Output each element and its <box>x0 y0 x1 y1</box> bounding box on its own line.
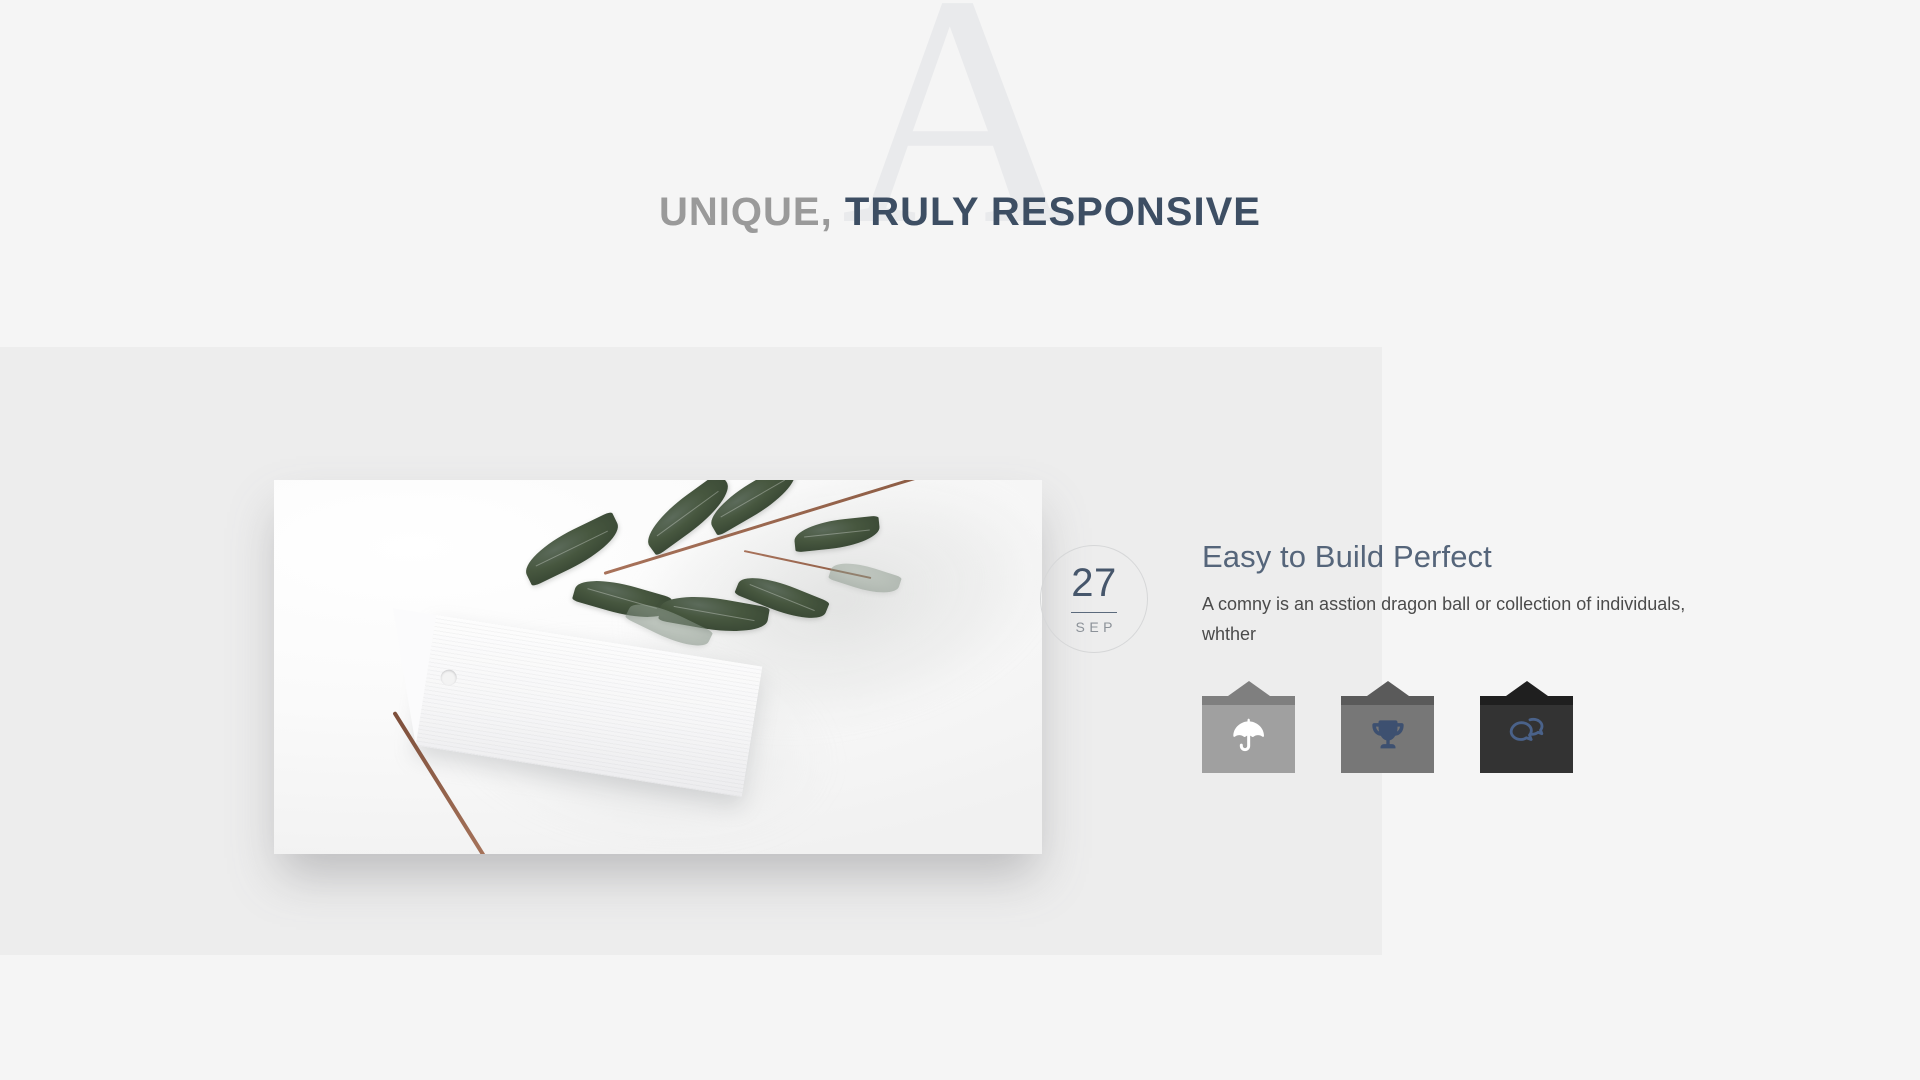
post-date-month: SEP <box>1071 620 1117 634</box>
post-image-canvas: ê <box>274 480 1042 854</box>
badge-top-strip <box>1341 696 1434 705</box>
trophy-icon <box>1368 715 1408 755</box>
badge-notch <box>1228 681 1270 696</box>
post-featured-image[interactable]: ê <box>274 480 1042 854</box>
badge-notch <box>1506 681 1548 696</box>
badge-comments[interactable] <box>1480 683 1573 773</box>
post-text-block: Easy to Build Perfect A comny is an asst… <box>1202 537 1762 649</box>
post-date-badge[interactable]: 27 SEP <box>1040 545 1148 653</box>
badge-trophy[interactable] <box>1341 683 1434 773</box>
umbrella-icon <box>1229 715 1269 755</box>
post-date-divider <box>1071 612 1117 613</box>
post-badge-row <box>1202 683 1573 773</box>
page-title-light-part: UNIQUE, <box>659 190 833 234</box>
badge-top-strip <box>1202 696 1295 705</box>
post-excerpt: A comny is an asstion dragon ball or col… <box>1202 589 1732 649</box>
badge-top-strip <box>1480 696 1573 705</box>
comments-icon <box>1507 715 1547 755</box>
post-title[interactable]: Easy to Build Perfect <box>1202 537 1762 577</box>
badge-umbrella[interactable] <box>1202 683 1295 773</box>
post-date-day: 27 <box>1071 563 1117 603</box>
badge-notch <box>1367 681 1409 696</box>
page-title-bold-part: TRULY RESPONSIVE <box>845 190 1261 234</box>
hero-section: A UNIQUE, TRULY RESPONSIVE <box>0 0 1920 347</box>
page-title: UNIQUE, TRULY RESPONSIVE <box>0 187 1920 237</box>
